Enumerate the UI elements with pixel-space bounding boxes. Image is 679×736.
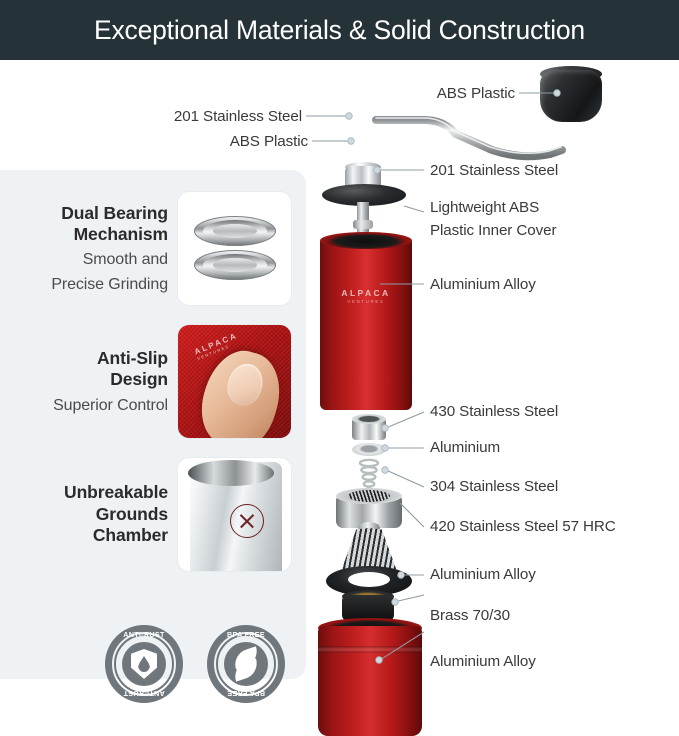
page-title: Exceptional Materials & Solid Constructi… xyxy=(94,15,585,46)
callout-aluminium-alloy-base: Aluminium Alloy xyxy=(430,652,536,671)
aluminium-washer xyxy=(352,443,386,456)
bpa-free-badge-text-bottom: BPA FREE xyxy=(207,689,285,698)
page-header: Exceptional Materials & Solid Constructi… xyxy=(0,0,679,60)
burr-teeth xyxy=(348,490,390,502)
aluminium-upper-body xyxy=(320,238,412,410)
callout-aluminium-washer: Aluminium xyxy=(430,438,500,457)
infographic-stage: Dual Bearing Mechanism Smooth and Precis… xyxy=(0,60,679,679)
callout-lightweight-abs-line1: Lightweight ABS xyxy=(430,198,539,217)
exploded-product-diagram: ALPACA VENTURES xyxy=(0,60,679,679)
stainless-430-ring-top xyxy=(352,414,386,424)
base-groove xyxy=(318,646,422,653)
anti-rust-badge-text-bottom: ANTI-RUST xyxy=(105,689,183,698)
callout-201-stainless-steel-cap: 201 Stainless Steel xyxy=(60,107,302,126)
crank-arm xyxy=(372,110,572,164)
callout-304-stainless-steel: 304 Stainless Steel xyxy=(430,477,558,496)
aluminium-upper-body-rim xyxy=(320,232,412,249)
callout-lightweight-abs-line2: Plastic Inner Cover xyxy=(430,221,556,240)
callout-abs-plastic-lid: ABS Plastic xyxy=(80,132,308,151)
callout-aluminium-alloy-gasket: Aluminium Alloy xyxy=(430,565,536,584)
callout-201-stainless-steel-shaft: 201 Stainless Steel xyxy=(430,161,558,180)
shaft-collar xyxy=(353,220,373,229)
product-brand-mark: ALPACA VENTURES xyxy=(320,288,412,304)
callout-brass-70-30: Brass 70/30 xyxy=(430,606,510,625)
callout-abs-plastic-knob: ABS Plastic xyxy=(270,84,515,103)
gasket-center-hole xyxy=(348,572,390,587)
callout-aluminium-alloy-body: Aluminium Alloy xyxy=(430,275,536,294)
aluminium-grounds-base xyxy=(318,626,422,736)
callout-430-stainless-steel: 430 Stainless Steel xyxy=(430,402,558,421)
callout-420-stainless-steel-57-hrc: 420 Stainless Steel 57 HRC xyxy=(430,517,616,536)
